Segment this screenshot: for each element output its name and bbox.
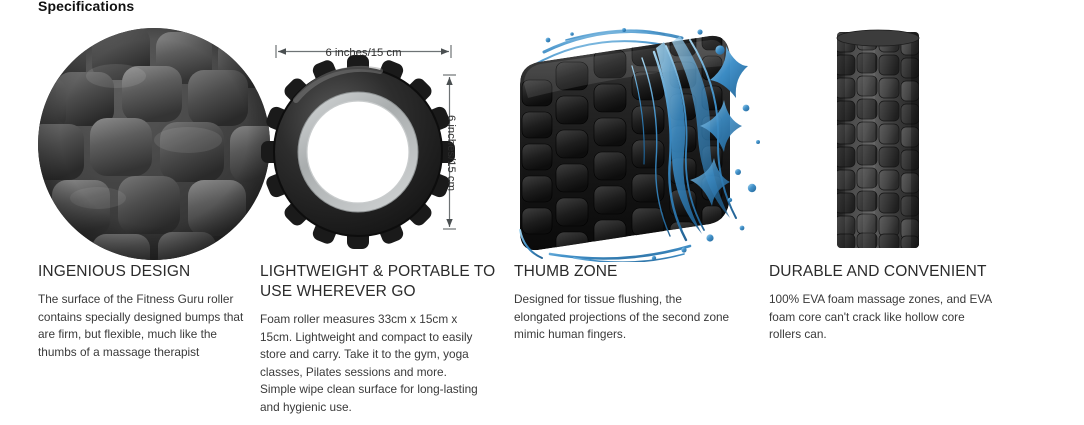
feature-media-1 bbox=[38, 22, 254, 262]
feature-card-lightweight-portable: 6 inches/15 cm 6 inches/15 cm LIGHTWEIGH… bbox=[254, 22, 504, 416]
dimension-height-label: 6 inches/15 cm bbox=[443, 74, 459, 232]
feature-body-3: Designed for tissue flushing, the elonga… bbox=[514, 291, 732, 344]
specifications-page: Specifications bbox=[0, 0, 1084, 425]
feature-body-1: The surface of the Fitness Guru roller c… bbox=[38, 291, 254, 361]
feature-card-thumb-zone: THUMB ZONE Designed for tissue flushing,… bbox=[504, 22, 759, 416]
roller-water-splash-image bbox=[514, 22, 769, 262]
dimension-height-group: 6 inches/15 cm bbox=[440, 74, 500, 239]
page-title: Specifications bbox=[38, 0, 134, 14]
feature-media-4 bbox=[769, 22, 1019, 262]
feature-card-ingenious-design: INGENIOUS DESIGN The surface of the Fitn… bbox=[0, 22, 254, 416]
feature-media-3 bbox=[514, 22, 759, 262]
feature-title-1: INGENIOUS DESIGN bbox=[38, 262, 254, 282]
foam-bump-closeup-circle-image bbox=[38, 28, 270, 260]
feature-body-2: Foam roller measures 33cm x 15cm x 15cm.… bbox=[260, 311, 482, 416]
dimension-width-label: 6 inches/15 cm bbox=[276, 47, 451, 59]
feature-body-4: 100% EVA foam massage zones, and EVA foa… bbox=[769, 291, 995, 344]
feature-title-3: THUMB ZONE bbox=[514, 262, 759, 282]
roller-end-view-dimensions-image: 6 inches/15 cm 6 inches/15 cm bbox=[260, 22, 510, 262]
feature-media-2: 6 inches/15 cm 6 inches/15 cm bbox=[260, 22, 504, 262]
feature-title-2: LIGHTWEIGHT & PORTABLE TO USE WHEREVER G… bbox=[260, 262, 504, 302]
vertical-foam-roller-image bbox=[769, 22, 1029, 262]
feature-columns: INGENIOUS DESIGN The surface of the Fitn… bbox=[0, 22, 1084, 416]
feature-card-durable-convenient: DURABLE AND CONVENIENT 100% EVA foam mas… bbox=[759, 22, 1019, 416]
dimension-width-group: 6 inches/15 cm bbox=[276, 47, 451, 77]
feature-title-4: DURABLE AND CONVENIENT bbox=[769, 262, 1019, 282]
